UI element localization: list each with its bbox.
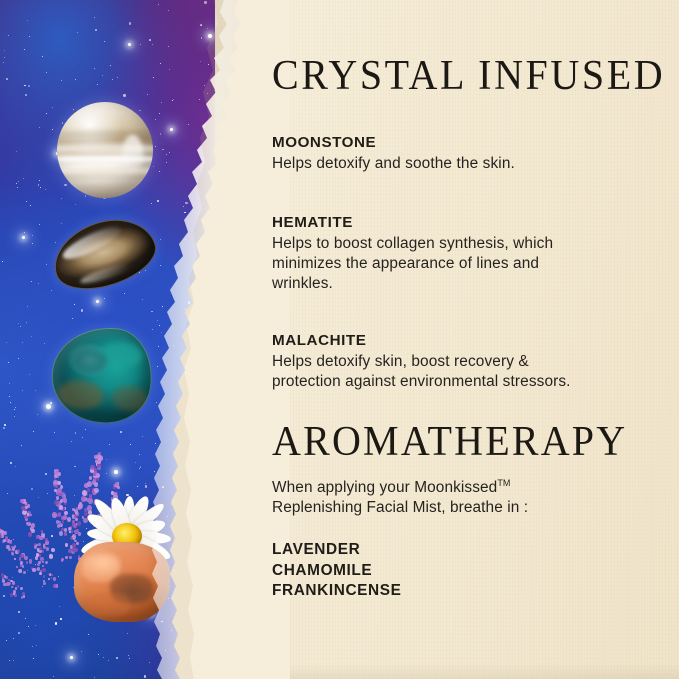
star	[54, 432, 55, 433]
stone-description-moonstone: Helps detoxify and soothe the skin.	[272, 154, 648, 174]
lavender-bud	[5, 537, 8, 541]
lavender-bud	[41, 530, 43, 533]
star	[120, 431, 122, 433]
star	[38, 184, 40, 186]
lavender-bud	[11, 552, 14, 555]
lavender-bud	[53, 584, 57, 588]
bright-star	[22, 236, 25, 239]
lavender-bud	[68, 549, 72, 554]
star	[14, 416, 15, 417]
stone-description-hematite-line-1: Helps to boost collagen synthesis, which	[272, 234, 648, 254]
star	[30, 205, 32, 207]
lavender-bud	[4, 575, 6, 577]
stone-block-malachite: MALACHITE Helps detoxify skin, boost rec…	[272, 332, 648, 392]
stone-description-hematite-line-3: wrinkles.	[272, 274, 648, 294]
lavender-bud	[53, 480, 58, 485]
torn-edge-svg	[150, 0, 290, 679]
lavender-bud	[45, 561, 48, 564]
lavender-bud	[2, 579, 5, 583]
star	[24, 232, 26, 234]
star	[52, 129, 53, 130]
lavender-bud	[36, 553, 40, 557]
star	[62, 122, 64, 124]
star	[140, 466, 142, 468]
star	[95, 29, 97, 31]
star	[142, 436, 143, 437]
star	[73, 109, 74, 110]
bright-star	[128, 43, 131, 46]
star	[142, 299, 143, 300]
lavender-bud	[43, 582, 46, 586]
essential-oil-frankincense: FRANKINCENSE	[272, 581, 602, 602]
star	[64, 184, 66, 186]
star	[139, 110, 141, 112]
star	[39, 224, 40, 225]
star	[26, 201, 27, 202]
star	[15, 466, 16, 467]
lavender-bud	[56, 496, 59, 500]
lavender-bud	[11, 586, 13, 589]
star	[112, 79, 113, 80]
lavender-bud	[53, 577, 56, 581]
star	[24, 49, 25, 50]
lavender-bud	[93, 478, 97, 482]
stone-block-hematite: HEMATITE Helps to boost collagen synthes…	[272, 214, 648, 294]
star	[20, 326, 21, 327]
stone-description-malachite-line-2: protection against environmental stresso…	[272, 372, 648, 392]
star	[9, 396, 10, 397]
lavender-bud	[54, 489, 57, 492]
star	[39, 180, 40, 181]
star	[32, 235, 34, 237]
aromatherapy-intro: When applying your MoonkissedTM Replenis…	[272, 478, 632, 519]
star	[40, 187, 41, 188]
star	[102, 75, 103, 76]
lavender-bud	[59, 523, 63, 527]
star	[6, 342, 7, 343]
star	[17, 187, 18, 188]
lavender-bud	[23, 571, 26, 574]
lavender-bud	[17, 549, 20, 553]
star	[6, 78, 8, 80]
lavender-bud	[46, 547, 49, 551]
lavender-bud	[0, 530, 4, 534]
star	[106, 459, 107, 460]
lavender-bud	[64, 528, 67, 532]
lavender-bud	[29, 559, 33, 564]
star	[16, 151, 17, 152]
star	[2, 261, 3, 262]
lavender-bud	[20, 499, 24, 503]
star	[18, 181, 19, 182]
lavender-bud	[41, 533, 45, 537]
star	[26, 322, 27, 323]
lavender-bud	[9, 540, 12, 543]
stone-block-moonstone: MOONSTONE Helps detoxify and soothe the …	[272, 134, 648, 174]
lavender-bud	[59, 531, 63, 536]
star	[46, 113, 47, 114]
star	[32, 243, 34, 245]
star	[16, 183, 17, 184]
lavender-bud	[18, 569, 22, 574]
lavender-bud	[48, 578, 50, 580]
lavender-bud	[20, 587, 23, 590]
lavender-bud	[16, 566, 18, 569]
lavender-bud	[42, 568, 46, 572]
lavender-bud	[65, 556, 68, 559]
essential-oil-chamomile: CHAMOMILE	[272, 561, 602, 582]
bright-star	[114, 470, 118, 474]
star	[71, 441, 72, 442]
star	[14, 409, 16, 411]
star	[74, 466, 76, 468]
star	[27, 306, 28, 307]
star	[8, 362, 9, 363]
lavender-bud	[45, 538, 48, 541]
star	[44, 343, 45, 344]
lavender-bud	[8, 582, 11, 585]
lavender-bud	[32, 568, 36, 573]
lavender-bud	[98, 452, 101, 456]
essential-oil-lavender: LAVENDER	[272, 540, 602, 561]
star	[94, 17, 95, 18]
lavender-bud	[39, 550, 42, 553]
star	[8, 35, 9, 36]
lavender-bud	[90, 465, 94, 470]
bright-star	[96, 300, 99, 303]
lavender-bud	[61, 558, 64, 561]
aromatherapy-intro-line-2: Replenishing Facial Mist, breathe in :	[272, 499, 528, 516]
frankincense-facet	[86, 593, 130, 615]
star	[33, 431, 34, 432]
torn-paper-edge	[150, 0, 290, 679]
star	[31, 281, 32, 282]
stone-name-moonstone: MOONSTONE	[272, 134, 648, 152]
star	[75, 79, 76, 80]
lavender-bud	[0, 535, 2, 538]
lavender-bud	[52, 512, 56, 517]
star	[85, 195, 87, 197]
star	[94, 68, 95, 69]
stone-description-hematite-line-2: minimizes the appearance of lines and	[272, 254, 648, 274]
star	[25, 94, 27, 96]
lavender-bud	[93, 473, 96, 476]
star	[74, 304, 75, 305]
lavender-bud	[67, 517, 71, 522]
star	[72, 318, 73, 319]
star	[38, 283, 39, 284]
star	[46, 264, 47, 265]
star	[10, 402, 11, 403]
lavender-bud	[38, 543, 41, 547]
star	[75, 204, 76, 205]
lavender-bud	[89, 476, 92, 480]
star	[130, 444, 131, 445]
product-ingredient-poster: CRYSTAL INFUSED MOONSTONE Helps detoxify…	[0, 0, 679, 679]
star	[24, 85, 26, 87]
star	[117, 77, 118, 78]
star	[29, 374, 30, 375]
star	[4, 424, 6, 426]
star	[52, 107, 53, 108]
star	[104, 41, 105, 42]
star	[110, 65, 111, 66]
stone-description-malachite-line-1: Helps detoxify skin, boost recovery &	[272, 352, 648, 372]
lavender-bud	[17, 585, 19, 588]
star	[46, 72, 47, 73]
star	[27, 20, 28, 21]
star	[123, 94, 125, 96]
lavender-bud	[37, 563, 39, 566]
malachite-rim	[47, 322, 156, 428]
lavender-bud	[56, 520, 59, 524]
star	[109, 444, 111, 446]
star	[22, 390, 23, 391]
lavender-bud	[64, 511, 68, 515]
star	[28, 85, 30, 87]
lavender-bud	[43, 575, 46, 578]
essential-oil-list: LAVENDER CHAMOMILE FRANKINCENSE	[272, 540, 602, 602]
lavender-bud	[14, 558, 16, 561]
star	[42, 56, 43, 57]
lavender-bud	[54, 500, 58, 505]
star	[51, 290, 52, 291]
star	[61, 198, 62, 199]
ingredient-copy: CRYSTAL INFUSED MOONSTONE Helps detoxify…	[272, 0, 652, 679]
star	[61, 80, 62, 81]
lavender-bud	[48, 573, 50, 576]
star	[139, 454, 140, 455]
star	[61, 223, 62, 224]
lavender-bud	[57, 481, 60, 485]
star	[82, 437, 83, 438]
star	[140, 44, 141, 45]
star	[23, 178, 24, 179]
star	[106, 473, 107, 474]
lavender-bud	[60, 485, 63, 489]
aromatherapy-intro-line-1: When applying your Moonkissed	[272, 479, 497, 496]
lavender-bud	[61, 492, 65, 496]
lavender-bud	[64, 532, 68, 536]
star	[3, 427, 5, 429]
lavender-bud	[15, 587, 18, 590]
crystal-infused-heading: CRYSTAL INFUSED	[272, 54, 665, 96]
star	[37, 414, 38, 415]
star	[97, 84, 98, 85]
lavender-bud	[57, 488, 62, 494]
moonstone-sphere-icon	[57, 102, 153, 198]
lavender-bud	[31, 523, 35, 528]
lavender-bud	[14, 545, 16, 548]
star	[9, 383, 10, 384]
lavender-bud	[43, 546, 45, 549]
star	[104, 298, 105, 299]
star	[31, 336, 32, 337]
aromatherapy-heading: AROMATHERAPY	[272, 420, 627, 462]
lavender-bud	[30, 527, 33, 530]
lavender-bud	[13, 590, 16, 594]
star	[18, 323, 19, 324]
lavender-bud	[22, 592, 25, 596]
star	[10, 462, 12, 464]
star	[147, 94, 148, 95]
star	[4, 50, 5, 51]
lavender-bud	[34, 545, 38, 549]
star	[45, 189, 46, 190]
star	[21, 445, 22, 446]
lavender-bud	[28, 532, 33, 537]
star	[4, 57, 5, 58]
star	[75, 432, 77, 434]
moonstone-band	[57, 131, 153, 137]
star	[18, 358, 19, 359]
star	[124, 293, 125, 294]
star	[85, 429, 86, 430]
star	[39, 127, 40, 128]
lavender-bud	[6, 545, 10, 549]
lavender-bud	[39, 572, 42, 576]
lavender-bud	[51, 574, 53, 576]
star	[81, 309, 83, 311]
lavender-bud	[21, 506, 25, 510]
lavender-bud	[65, 543, 68, 547]
stone-name-hematite: HEMATITE	[272, 214, 648, 232]
star	[29, 36, 30, 37]
star	[22, 342, 23, 343]
star	[45, 473, 47, 475]
lavender-bud	[1, 573, 4, 577]
star	[35, 390, 37, 392]
star	[129, 22, 131, 24]
star	[135, 462, 136, 463]
star	[3, 62, 4, 63]
lavender-bud	[49, 554, 53, 558]
stone-name-malachite: MALACHITE	[272, 332, 648, 350]
trademark-symbol: TM	[497, 478, 510, 488]
lavender-bud	[51, 548, 55, 552]
malachite-stone-icon	[47, 322, 156, 428]
lavender-bud	[58, 512, 62, 516]
star	[77, 32, 78, 33]
